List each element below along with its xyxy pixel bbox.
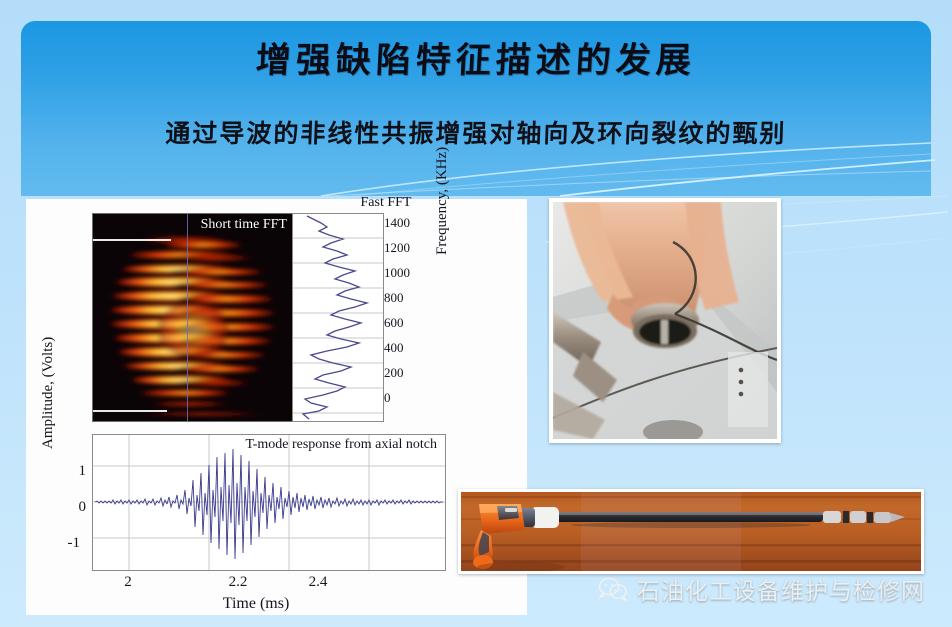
photo-sensor-canvas <box>553 202 777 439</box>
presentation-slide: 增强缺陷特征描述的发展 通过导波的非线性共振增强对轴向及环向裂纹的甄别 Fast… <box>0 0 952 627</box>
fft-tick-800: 800 <box>384 290 404 306</box>
page-subtitle: 通过导波的非线性共振增强对轴向及环向裂纹的甄别 <box>0 114 952 150</box>
fft-tick-0: 0 <box>384 390 391 406</box>
wechat-icon <box>598 577 628 601</box>
waveform-y-axis-label: Amplitude, (Volts) <box>40 337 57 449</box>
fft-tick-1200: 1200 <box>384 240 410 256</box>
waveform-ytick-1: 1 <box>58 463 86 480</box>
waveform-x-axis-label: Time (ms) <box>26 595 486 613</box>
spectrogram-label: Short time FFT <box>201 217 287 233</box>
waveform-svg <box>93 435 445 570</box>
photo-guided-wave-probe <box>458 489 924 574</box>
photo-probe-canvas <box>461 492 921 571</box>
fft-curve-plot <box>292 213 384 422</box>
watermark: 石油化工设备维护与检修网 <box>598 572 925 606</box>
fft-tick-1400: 1400 <box>384 215 410 231</box>
spectrogram-marker-upper <box>93 239 171 241</box>
fft-y-axis-label: Frequency, (KHz) <box>434 147 451 255</box>
waveform-plot: T-mode response from axial notch <box>92 434 446 571</box>
fft-tick-200: 200 <box>384 365 404 381</box>
fft-tick-600: 600 <box>384 315 404 331</box>
waveform-xtick-2p4: 2.4 <box>298 574 338 591</box>
waveform-ytick-0: 0 <box>58 499 86 516</box>
figure-panel: Fast FFT <box>26 199 527 615</box>
spectrogram-image: Short time FFT <box>92 213 294 422</box>
waveform-xtick-2: 2 <box>108 574 148 591</box>
waveform-title: T-mode response from axial notch <box>245 437 437 453</box>
waveform-ytick-neg1: -1 <box>52 535 80 552</box>
fft-tick-1000: 1000 <box>384 265 410 281</box>
photo-hand-holding-transducer <box>549 198 781 443</box>
waveform-xtick-2p2: 2.2 <box>218 574 258 591</box>
watermark-text: 石油化工设备维护与检修网 <box>637 572 925 606</box>
spectrogram-cursor <box>187 214 188 421</box>
spectrogram-canvas <box>93 214 293 421</box>
fft-tick-400: 400 <box>384 340 404 356</box>
spectrogram-marker-lower <box>93 410 167 412</box>
fft-plot-title: Fast FFT <box>326 195 446 211</box>
page-title: 增强缺陷特征描述的发展 <box>0 32 952 83</box>
fft-curve-svg <box>293 214 383 421</box>
